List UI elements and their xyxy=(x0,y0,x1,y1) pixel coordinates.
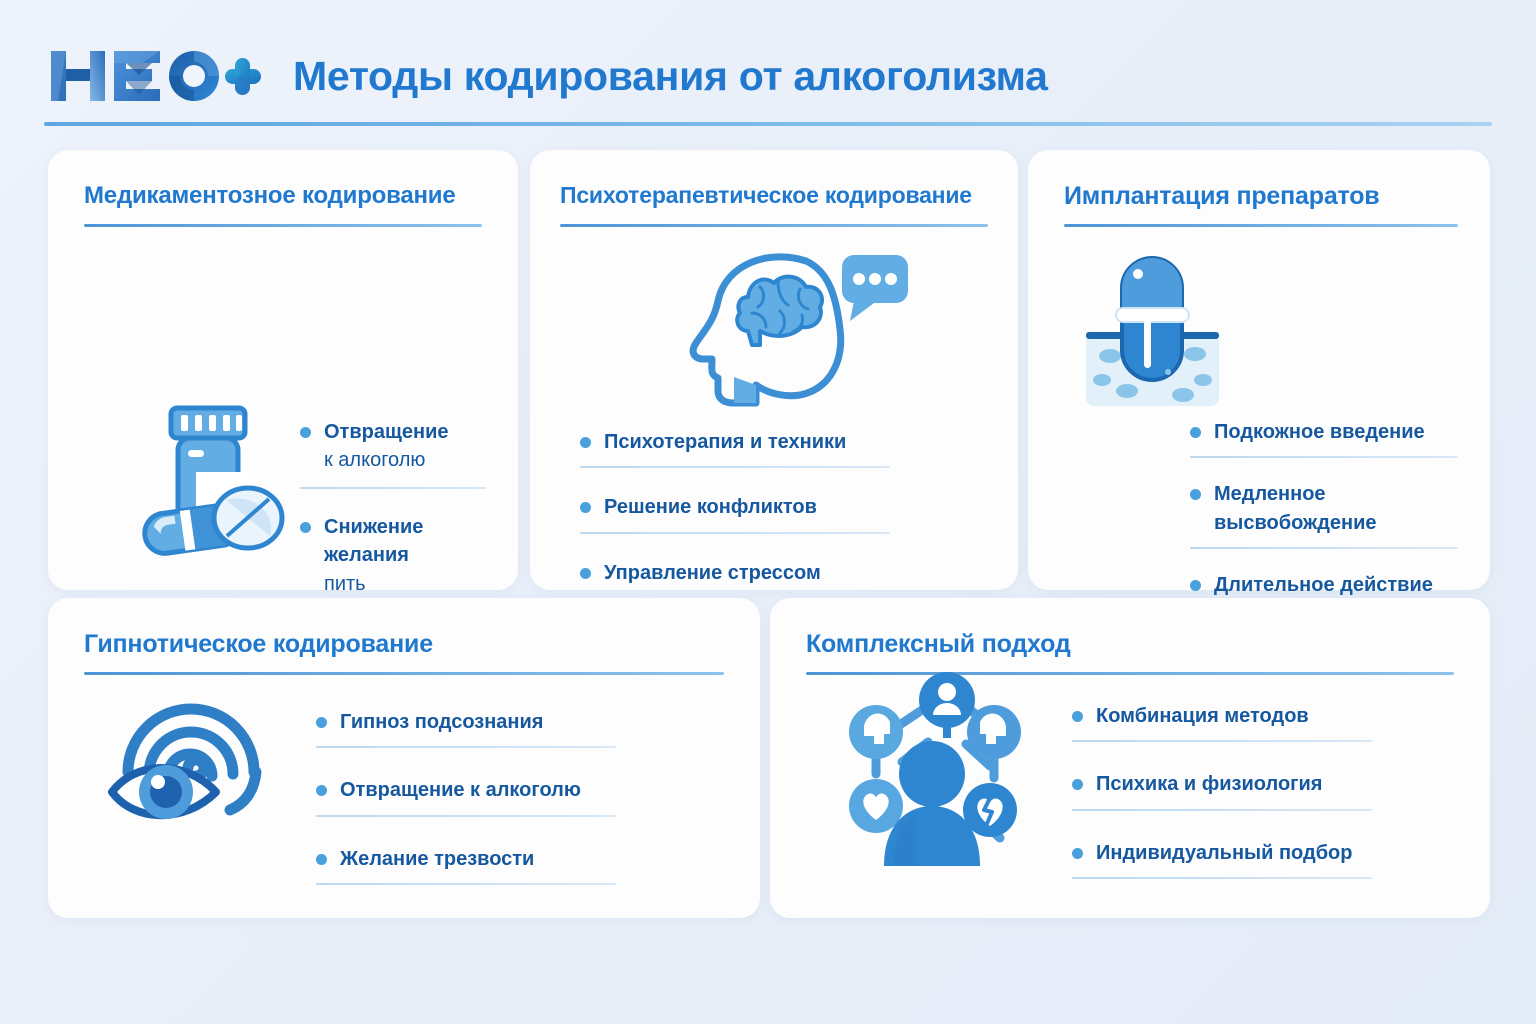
card-title: Психотерапевтическое кодирование xyxy=(560,182,972,209)
bullet-line1: Отвращение xyxy=(324,418,486,446)
bullet-line1: Гипноз подсознания xyxy=(316,708,616,736)
bullet-line-group: Медленное высвобождение xyxy=(1190,480,1458,537)
list-separator xyxy=(580,532,890,534)
infographic-page: Методы кодирования от алкоголизма Медика… xyxy=(0,0,1536,1024)
card-title: Комплексный подход xyxy=(806,630,1071,659)
list-item[interactable]: Отвращение к алкоголю xyxy=(300,418,486,489)
bullet-line1: Медленное xyxy=(1214,480,1458,508)
page-header: Методы кодирования от алкоголизма xyxy=(48,30,1492,122)
card-psychotherapy[interactable]: Психотерапевтическое кодирование xyxy=(530,150,1018,590)
list-item[interactable]: Комбинация методов xyxy=(1072,702,1372,742)
bullet-dot xyxy=(300,427,311,438)
person-network-icon xyxy=(832,670,1032,870)
bullet-dot xyxy=(580,568,591,579)
list-item[interactable]: Медленное высвобождение xyxy=(1190,480,1458,549)
list-item[interactable]: Индивидуальный подбор xyxy=(1072,839,1372,879)
card-medication[interactable]: Медикаментозное кодирование xyxy=(48,150,518,590)
card-title-underline xyxy=(1064,224,1458,227)
list-separator xyxy=(316,815,616,817)
bullet-line1: Отвращение к алкоголю xyxy=(316,776,616,804)
bullet-list: Гипноз подсознания Отвращение к алкоголю… xyxy=(316,708,616,885)
bullet-line1: Комбинация методов xyxy=(1072,702,1372,730)
head-brain-speech-icon xyxy=(678,245,908,410)
neo-plus-logo xyxy=(48,45,263,107)
bullet-line1: Желание трезвости xyxy=(316,845,616,873)
bullet-line2: пить xyxy=(324,570,486,598)
list-item[interactable]: Гипноз подсознания xyxy=(316,708,616,748)
bullet-dot xyxy=(1072,711,1083,722)
card-complex-approach[interactable]: Комплексный подход xyxy=(770,598,1490,918)
list-separator xyxy=(316,883,616,885)
list-separator xyxy=(1190,547,1458,549)
bullet-list: Комбинация методов Психика и физиология … xyxy=(1072,702,1372,879)
card-implantation[interactable]: Имплантация препаратов xyxy=(1028,150,1490,590)
list-separator xyxy=(1072,740,1372,742)
bullet-dot xyxy=(316,717,327,728)
list-item[interactable]: Подкожное введение xyxy=(1190,418,1458,458)
list-separator xyxy=(580,466,890,468)
implant-capsule-icon xyxy=(1080,246,1225,411)
pill-bottle-icon xyxy=(126,398,291,563)
bullet-dot xyxy=(580,437,591,448)
card-title: Гипнотическое кодирование xyxy=(84,630,433,659)
list-item[interactable]: Решение конфликтов xyxy=(580,493,890,533)
bullet-line1: Управление стрессом xyxy=(580,559,890,587)
bullet-line1: Психотерапия и техники xyxy=(580,428,890,456)
hypnosis-eye-spiral-icon xyxy=(104,680,264,830)
header-divider xyxy=(44,122,1492,126)
bullet-line1: Психика и физиология xyxy=(1072,770,1372,798)
list-item[interactable]: Отвращение к алкоголю xyxy=(316,776,616,816)
bullet-line2: к алкоголю xyxy=(324,446,486,474)
bullet-line2: высвобождение xyxy=(1214,509,1458,537)
bullet-line1: Индивидуальный подбор xyxy=(1072,839,1372,867)
page-title: Методы кодирования от алкоголизма xyxy=(293,56,1048,97)
list-separator xyxy=(1190,456,1458,458)
card-hypnosis[interactable]: Гипнотическое кодирование xyxy=(48,598,760,918)
list-item[interactable]: Психика и физиология xyxy=(1072,770,1372,810)
list-separator xyxy=(1072,877,1372,879)
card-title: Медикаментозное кодирование xyxy=(84,182,456,210)
list-item[interactable]: Желание трезвости xyxy=(316,845,616,885)
list-separator xyxy=(1072,809,1372,811)
list-separator xyxy=(300,487,486,489)
card-title-underline xyxy=(560,224,988,227)
bullet-line1: Длительное действие xyxy=(1190,571,1458,599)
list-separator xyxy=(316,746,616,748)
bullet-list: Психотерапия и техники Решение конфликто… xyxy=(580,428,890,587)
bullet-line1: Решение конфликтов xyxy=(580,493,890,521)
list-item[interactable]: Психотерапия и техники xyxy=(580,428,890,468)
list-item[interactable]: Управление стрессом xyxy=(580,559,890,587)
card-title-underline xyxy=(84,672,724,675)
bullet-dot xyxy=(316,854,327,865)
bullet-line1: Снижение желания xyxy=(324,513,486,570)
bullet-line1: Подкожное введение xyxy=(1190,418,1458,446)
bullet-dot xyxy=(1072,848,1083,859)
card-title: Имплантация препаратов xyxy=(1064,182,1379,211)
bullet-dot xyxy=(300,522,311,533)
card-title-underline xyxy=(84,224,482,227)
bullet-dot xyxy=(1190,427,1201,438)
bullet-list: Подкожное введение Медленное высвобожден… xyxy=(1190,418,1458,612)
